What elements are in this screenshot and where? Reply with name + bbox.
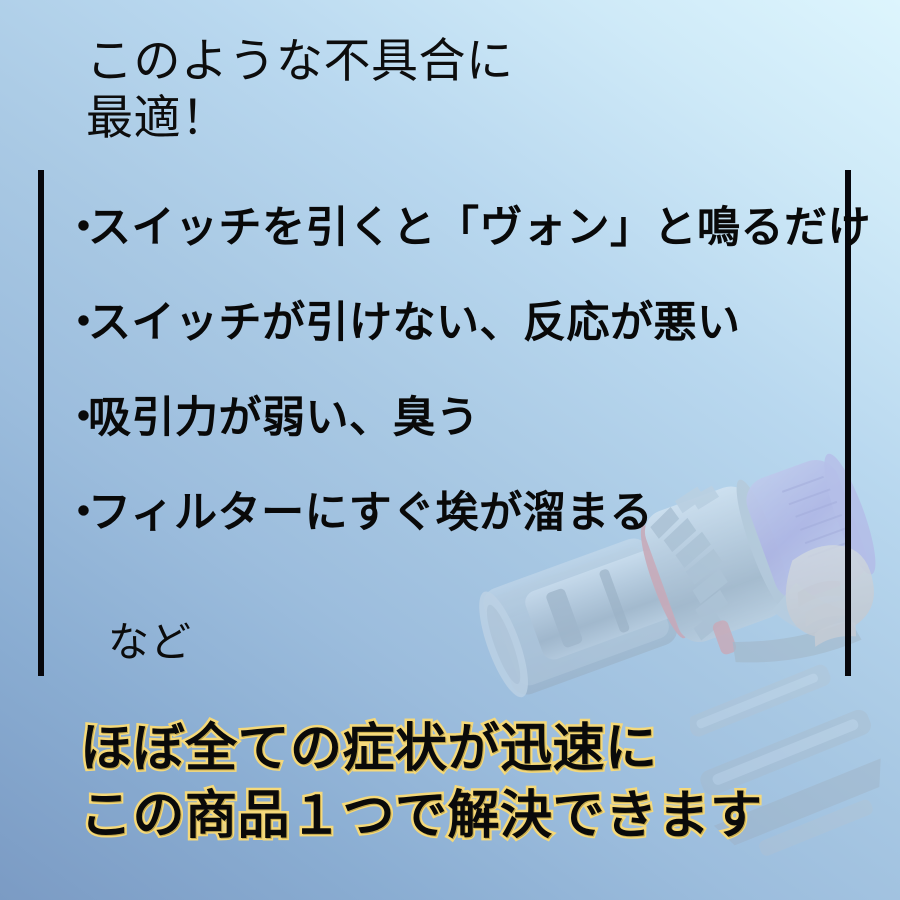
bullet-marker-icon: ・ [62, 396, 88, 441]
promo-poster: このような不具合に 最適！ ・ スイッチを引くと「ヴォン」と鳴るだけ ・ スイッ… [0, 0, 900, 900]
bullet-marker-icon: ・ [62, 491, 88, 536]
list-item-label: フィルターにすぐ埃が溜まる [88, 491, 852, 536]
page-title: このような不具合に 最適！ [86, 32, 726, 147]
list-item: ・ 吸引力が弱い、臭う [62, 396, 852, 441]
left-vertical-rule [38, 170, 44, 676]
bullet-marker-icon: ・ [62, 206, 88, 251]
closing-line-1: ほぼ全ての症状が迅速に [80, 716, 870, 783]
list-item-label: スイッチを引くと「ヴォン」と鳴るだけ [88, 206, 871, 251]
list-item-label: スイッチが引けない、反応が悪い [88, 301, 852, 346]
list-item: ・ スイッチが引けない、反応が悪い [62, 301, 852, 346]
closing-line-2: この商品１つで解決できます [80, 783, 870, 850]
bullet-marker-icon: ・ [62, 301, 88, 346]
list-item: ・ フィルターにすぐ埃が溜まる [62, 491, 852, 536]
list-item: ・ スイッチを引くと「ヴォン」と鳴るだけ [62, 206, 852, 251]
closing-statement: ほぼ全ての症状が迅速に この商品１つで解決できます [80, 716, 870, 849]
etc-label: など [108, 608, 192, 668]
symptom-list: ・ スイッチを引くと「ヴォン」と鳴るだけ ・ スイッチが引けない、反応が悪い ・… [62, 206, 852, 587]
list-item-label: 吸引力が弱い、臭う [88, 396, 852, 441]
